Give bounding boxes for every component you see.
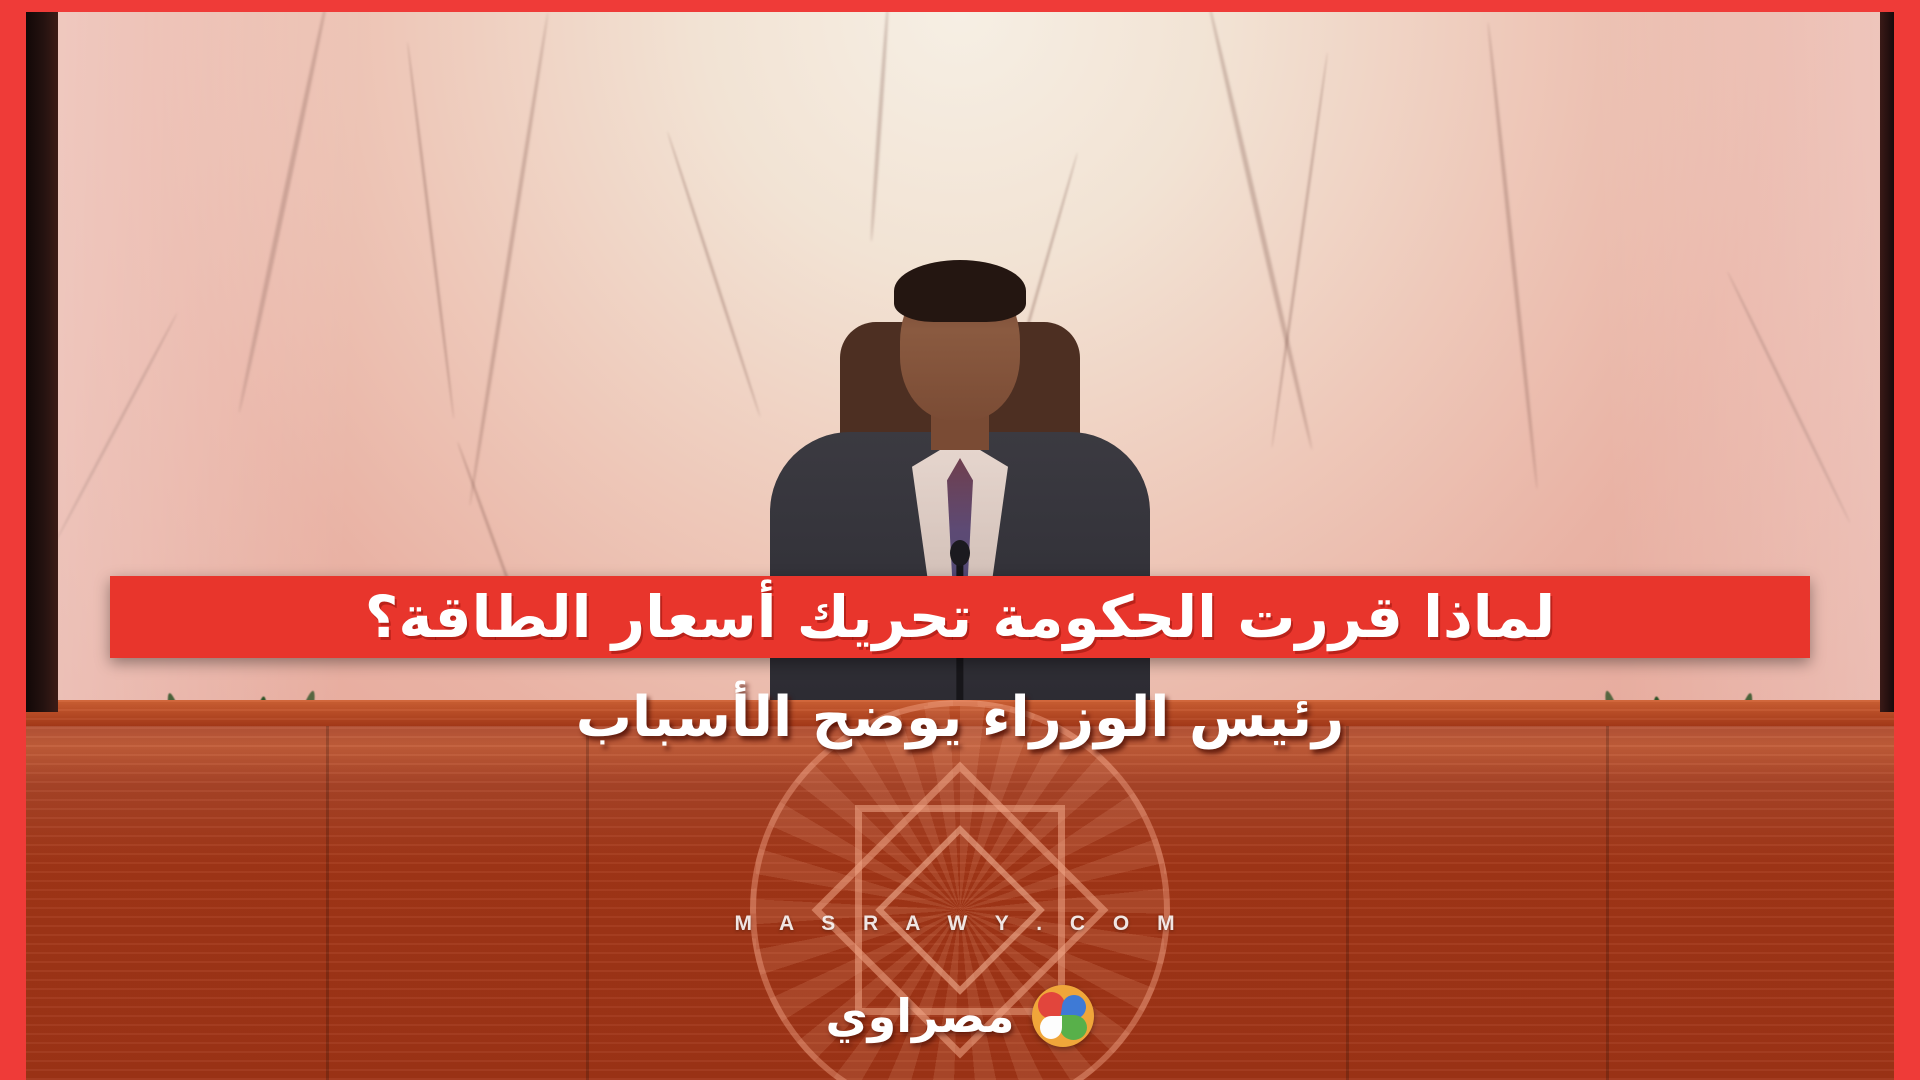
watermark-text: M A S R A W Y . C O M <box>734 912 1185 935</box>
hair <box>894 260 1026 322</box>
brand-logo[interactable]: مصراوي <box>0 985 1920 1047</box>
frame-left-shadow <box>26 12 58 712</box>
headline-line-2: رئيس الوزراء يوضح الأسباب <box>0 690 1920 746</box>
watermark: M A S R A W Y . C O M <box>0 912 1920 936</box>
headline-line-2-wrap: رئيس الوزراء يوضح الأسباب <box>0 690 1920 746</box>
headline-banner: لماذا قررت الحكومة تحريك أسعار الطاقة؟ <box>110 576 1810 658</box>
microphone-icon <box>950 540 970 566</box>
news-card: لماذا قررت الحكومة تحريك أسعار الطاقة؟ ر… <box>0 0 1920 1080</box>
brand-name: مصراوي <box>826 993 1015 1039</box>
masrawy-color-wheel-icon <box>1032 985 1094 1047</box>
headline-line-1: لماذا قررت الحكومة تحريك أسعار الطاقة؟ <box>365 588 1555 646</box>
frame-right-shadow <box>1880 12 1894 712</box>
